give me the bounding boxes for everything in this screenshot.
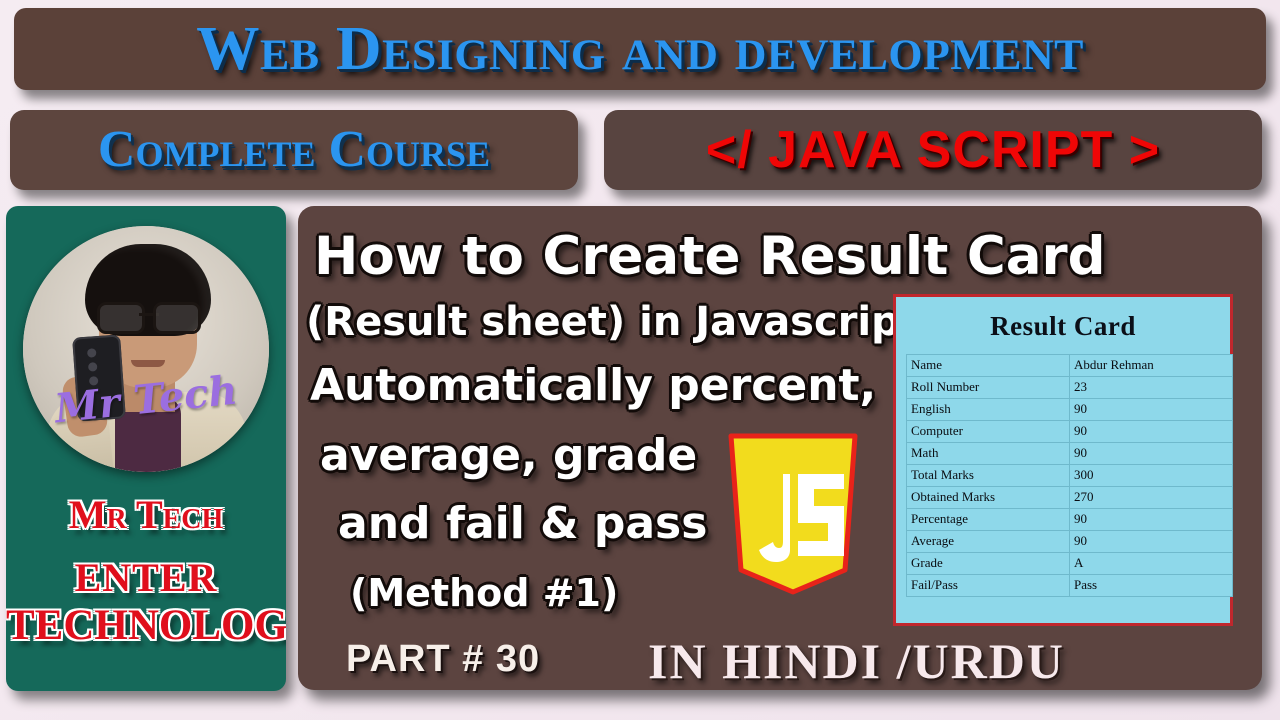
table-row: Obtained Marks270 [907, 487, 1232, 508]
result-row-label: Obtained Marks [907, 487, 1069, 508]
channel-name-line-2: TECHNOLOGY [6, 601, 286, 650]
table-row: Total Marks300 [907, 465, 1232, 486]
table-row: Average90 [907, 531, 1232, 552]
headline-line-2: (Result sheet) in Javascript [306, 302, 919, 342]
table-row: Roll Number23 [907, 377, 1232, 398]
result-row-value: Abdur Rehman [1070, 355, 1232, 376]
page-title: Web Designing and development [196, 18, 1084, 80]
headline-line-6: (Method #1) [350, 574, 618, 612]
complete-course-label: Complete Course [98, 124, 490, 176]
presenter-name: Mr Tech [6, 491, 286, 538]
phone-camera-lens [88, 362, 98, 372]
glasses-icon [97, 302, 201, 328]
smartphone-icon [72, 334, 126, 421]
language-label: IN HINDI /URDU [648, 632, 1065, 690]
javascript-logo-icon [726, 432, 860, 596]
glasses-left-lens [97, 302, 145, 334]
table-row: GradeA [907, 553, 1232, 574]
avatar: Mr Tech [23, 226, 269, 472]
result-row-label: English [907, 399, 1069, 420]
table-row: Computer90 [907, 421, 1232, 442]
headline-line-1: How to Create Result Card [314, 230, 1106, 283]
result-row-label: Average [907, 531, 1069, 552]
result-card-table: NameAbdur RehmanRoll Number23English90Co… [906, 354, 1233, 597]
result-row-value: 90 [1070, 421, 1232, 442]
result-row-label: Total Marks [907, 465, 1069, 486]
result-row-value: 90 [1070, 399, 1232, 420]
result-row-value: 270 [1070, 487, 1232, 508]
table-row: English90 [907, 399, 1232, 420]
complete-course-badge: Complete Course [10, 110, 578, 190]
javascript-badge: </ JAVA SCRIPT > [604, 110, 1262, 190]
result-row-value: 23 [1070, 377, 1232, 398]
main-content-panel: How to Create Result Card (Result sheet)… [298, 206, 1262, 690]
thumbnail-canvas: Web Designing and development Complete C… [0, 0, 1280, 720]
result-row-label: Grade [907, 553, 1069, 574]
channel-name-line-1: ENTER [6, 554, 286, 601]
result-row-value: 90 [1070, 531, 1232, 552]
headline-line-3: Automatically percent, [310, 364, 876, 408]
result-row-label: Percentage [907, 509, 1069, 530]
result-card-preview: Result Card NameAbdur RehmanRoll Number2… [893, 294, 1233, 626]
result-row-value: 90 [1070, 509, 1232, 530]
main-title-plaque: Web Designing and development [14, 8, 1266, 90]
table-row: Percentage90 [907, 509, 1232, 530]
part-number-label: PART # 30 [346, 638, 540, 681]
result-row-value: 300 [1070, 465, 1232, 486]
avatar-mouth [131, 360, 165, 367]
result-row-label: Roll Number [907, 377, 1069, 398]
result-row-value: 90 [1070, 443, 1232, 464]
table-row: Fail/PassPass [907, 575, 1232, 596]
result-row-label: Computer [907, 421, 1069, 442]
headline-line-5: and fail & pass [338, 502, 707, 546]
headline-line-4: average, grade [320, 434, 697, 478]
table-row: Math90 [907, 443, 1232, 464]
table-row: NameAbdur Rehman [907, 355, 1232, 376]
presenter-profile-card: Mr Tech Mr Tech ENTER TECHNOLOGY [6, 206, 286, 691]
javascript-label: </ JAVA SCRIPT > [706, 124, 1160, 176]
phone-camera-lens [89, 376, 99, 386]
result-card-title: Result Card [906, 311, 1220, 342]
glasses-right-lens [153, 302, 201, 334]
result-row-label: Fail/Pass [907, 575, 1069, 596]
result-row-label: Name [907, 355, 1069, 376]
result-row-label: Math [907, 443, 1069, 464]
result-row-value: A [1070, 553, 1232, 574]
result-row-value: Pass [1070, 575, 1232, 596]
phone-camera-lens [87, 348, 97, 358]
